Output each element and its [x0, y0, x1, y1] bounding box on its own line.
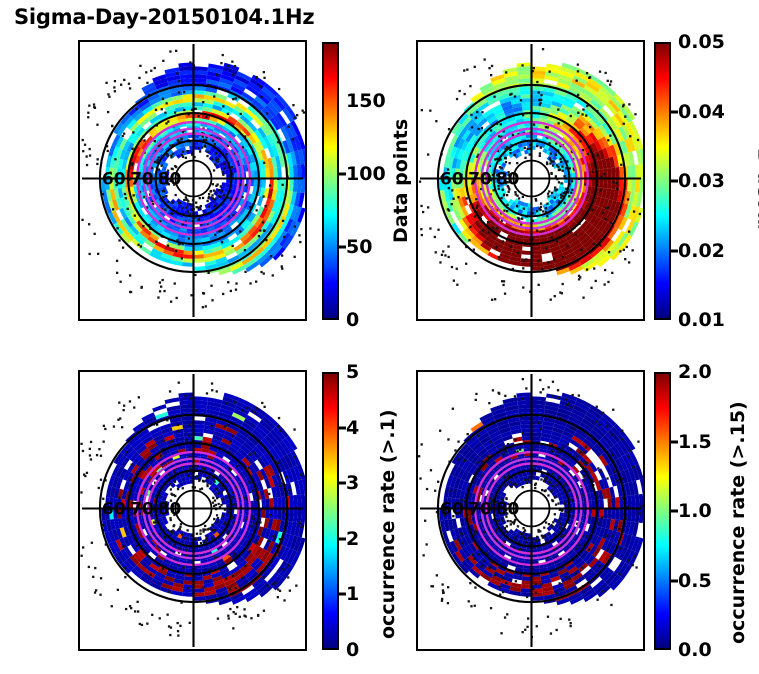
radial-tick-label: 80 [158, 500, 182, 520]
colorbar-tick-mark [339, 482, 346, 485]
radial-tick-label: 60 [102, 170, 126, 190]
colorbar-mean-sigma-phi[interactable] [654, 42, 671, 320]
colorbar-title-mean-sigma-phi: mean σφ [752, 139, 759, 230]
radial-tick-label: 70 [468, 500, 492, 520]
colorbar-tick-mark [339, 593, 346, 596]
radial-tick-label: 60 [440, 500, 464, 520]
colorbar-tick-mark [339, 537, 346, 540]
colorbar-gradient [656, 374, 669, 648]
colorbar-data-points[interactable] [322, 42, 339, 320]
colorbar-tick-label: 100 [346, 163, 386, 185]
colorbar-tick-mark [671, 579, 678, 582]
colorbar-tick-mark [339, 172, 346, 175]
colorbar-tick-label: 2.0 [678, 361, 712, 383]
colorbar-gradient [324, 44, 337, 318]
radial-tick-label: 60 [440, 170, 464, 190]
radial-tick-label: 70 [130, 170, 154, 190]
polar-plot-svg: 607080 [80, 372, 305, 649]
data-points-polar-plot[interactable]: 607080 [78, 40, 307, 321]
figure-canvas: Sigma-Day-20150104.1Hz 607080 607080 607… [0, 0, 759, 674]
colorbar-title-data-points: Data points [390, 119, 412, 243]
colorbar-title-text: mean [752, 164, 759, 230]
colorbar-tick-label: 0.04 [678, 101, 725, 123]
colorbar-gradient [656, 44, 669, 318]
colorbar-tick-mark [671, 180, 678, 183]
colorbar-tick-label: 150 [346, 90, 386, 112]
page-title: Sigma-Day-20150104.1Hz [14, 5, 314, 29]
polar-plot-svg: 607080 [80, 42, 305, 319]
sigma-symbol: σ [752, 150, 759, 165]
colorbar-tick-label: 1 [346, 583, 359, 605]
radial-tick-label: 80 [496, 500, 520, 520]
colorbar-tick-label: 50 [346, 236, 372, 258]
colorbar-tick-label: 0 [346, 309, 359, 331]
colorbar-tick-mark [671, 510, 678, 513]
colorbar-title-occurrence-rate-0p15: occurrence rate (>.15) [727, 401, 749, 644]
radial-tick-label: 80 [496, 170, 520, 190]
colorbar-tick-mark [671, 440, 678, 443]
colorbar-occurrence-rate-0p15[interactable] [654, 372, 671, 650]
colorbar-tick-mark [339, 426, 346, 429]
colorbar-tick-mark [671, 110, 678, 113]
occurrence-rate-0p1-polar-plot[interactable]: 607080 [78, 370, 307, 651]
colorbar-tick-label: 0.5 [678, 570, 712, 592]
radial-tick-label: 60 [102, 500, 126, 520]
colorbar-occurrence-rate-0p1[interactable] [322, 372, 339, 650]
colorbar-gradient [324, 374, 337, 648]
occurrence-rate-0p15-polar-plot[interactable]: 607080 [416, 370, 645, 651]
polar-plot-svg: 607080 [418, 42, 643, 319]
colorbar-tick-label: 0.05 [678, 31, 725, 53]
colorbar-tick-label: 0.01 [678, 309, 725, 331]
colorbar-tick-label: 2 [346, 528, 359, 550]
polar-plot-svg: 607080 [418, 372, 643, 649]
colorbar-title-occurrence-rate-0p1: occurrence rate (>.1) [377, 409, 399, 639]
colorbar-tick-label: 1.5 [678, 431, 712, 453]
colorbar-tick-mark [671, 249, 678, 252]
colorbar-tick-mark [339, 245, 346, 248]
colorbar-tick-label: 0 [346, 639, 359, 661]
radial-tick-label: 70 [130, 500, 154, 520]
mean-sigma-phi-polar-plot[interactable]: 607080 [416, 40, 645, 321]
colorbar-tick-label: 0.02 [678, 240, 725, 262]
radial-tick-label: 80 [158, 170, 182, 190]
radial-tick-label: 70 [468, 170, 492, 190]
colorbar-tick-label: 1.0 [678, 500, 712, 522]
colorbar-tick-label: 0.03 [678, 170, 725, 192]
colorbar-tick-label: 3 [346, 472, 359, 494]
colorbar-tick-label: 5 [346, 361, 359, 383]
colorbar-tick-label: 4 [346, 417, 359, 439]
colorbar-tick-label: 0.0 [678, 639, 712, 661]
